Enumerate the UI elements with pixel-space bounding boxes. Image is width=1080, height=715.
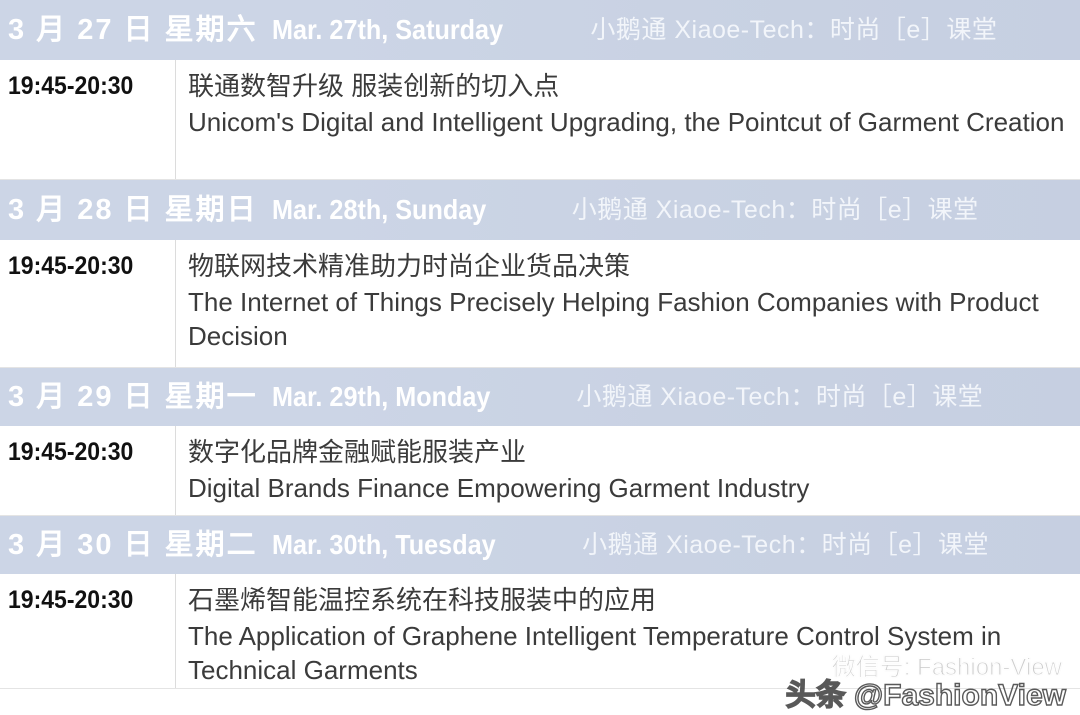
day-channel-2: 小鹅通 Xiaoe-Tech：时尚［e］课堂 bbox=[572, 198, 979, 223]
session-title-cn-1: 联通数智升级 服装创新的切入点 bbox=[188, 70, 1072, 103]
day-channel-4: 小鹅通 Xiaoe-Tech：时尚［e］课堂 bbox=[582, 533, 989, 558]
session-row-3: 19:45-20:30 数字化品牌金融赋能服装产业 Digital Brands… bbox=[0, 426, 1080, 516]
session-body-4: 石墨烯智能温控系统在科技服装中的应用 The Application of Gr… bbox=[176, 574, 1080, 699]
day-date-en-2: Mar. 28th, Sunday bbox=[272, 196, 486, 224]
day-header-2: 3 月 28 日 星期日 Mar. 28th, Sunday 小鹅通 Xiaoe… bbox=[0, 180, 1080, 240]
session-time-cell-3: 19:45-20:30 bbox=[0, 426, 176, 515]
session-row-2: 19:45-20:30 物联网技术精准助力时尚企业货品决策 The Intern… bbox=[0, 240, 1080, 368]
session-title-en-2: The Internet of Things Precisely Helping… bbox=[188, 285, 1072, 353]
day-date-en-1: Mar. 27th, Saturday bbox=[272, 16, 503, 44]
day-header-1: 3 月 27 日 星期六 Mar. 27th, Saturday 小鹅通 Xia… bbox=[0, 0, 1080, 60]
session-body-1: 联通数智升级 服装创新的切入点 Unicom's Digital and Int… bbox=[176, 60, 1080, 151]
day-channel-1: 小鹅通 Xiaoe-Tech：时尚［e］课堂 bbox=[590, 18, 997, 43]
day-header-3: 3 月 29 日 星期一 Mar. 29th, Monday 小鹅通 Xiaoe… bbox=[0, 368, 1080, 426]
session-row-4: 19:45-20:30 石墨烯智能温控系统在科技服装中的应用 The Appli… bbox=[0, 574, 1080, 689]
session-time-3: 19:45-20:30 bbox=[8, 440, 133, 465]
session-time-1: 19:45-20:30 bbox=[8, 74, 133, 99]
session-time-2: 19:45-20:30 bbox=[8, 254, 133, 279]
day-date-cn-2: 3 月 28 日 星期日 bbox=[8, 196, 258, 225]
day-channel-3: 小鹅通 Xiaoe-Tech：时尚［e］课堂 bbox=[576, 385, 983, 410]
session-time-4: 19:45-20:30 bbox=[8, 588, 133, 613]
session-row-1: 19:45-20:30 联通数智升级 服装创新的切入点 Unicom's Dig… bbox=[0, 60, 1080, 180]
session-body-2: 物联网技术精准助力时尚企业货品决策 The Internet of Things… bbox=[176, 240, 1080, 365]
session-body-3: 数字化品牌金融赋能服装产业 Digital Brands Finance Emp… bbox=[176, 426, 1080, 517]
session-title-en-1: Unicom's Digital and Intelligent Upgradi… bbox=[188, 105, 1072, 139]
session-title-cn-4: 石墨烯智能温控系统在科技服装中的应用 bbox=[188, 584, 1072, 617]
schedule-page: 3 月 27 日 星期六 Mar. 27th, Saturday 小鹅通 Xia… bbox=[0, 0, 1080, 715]
day-date-en-4: Mar. 30th, Tuesday bbox=[272, 531, 496, 559]
session-time-cell-4: 19:45-20:30 bbox=[0, 574, 176, 688]
day-date-cn-4: 3 月 30 日 星期二 bbox=[8, 531, 258, 560]
day-date-cn-3: 3 月 29 日 星期一 bbox=[8, 383, 258, 412]
session-title-cn-2: 物联网技术精准助力时尚企业货品决策 bbox=[188, 250, 1072, 283]
day-date-cn-1: 3 月 27 日 星期六 bbox=[8, 16, 258, 45]
session-time-cell-1: 19:45-20:30 bbox=[0, 60, 176, 179]
session-title-en-4: The Application of Graphene Intelligent … bbox=[188, 619, 1072, 687]
session-time-cell-2: 19:45-20:30 bbox=[0, 240, 176, 367]
day-date-en-3: Mar. 29th, Monday bbox=[272, 383, 490, 411]
day-header-4: 3 月 30 日 星期二 Mar. 30th, Tuesday 小鹅通 Xiao… bbox=[0, 516, 1080, 574]
session-title-en-3: Digital Brands Finance Empowering Garmen… bbox=[188, 471, 1072, 505]
session-title-cn-3: 数字化品牌金融赋能服装产业 bbox=[188, 436, 1072, 469]
